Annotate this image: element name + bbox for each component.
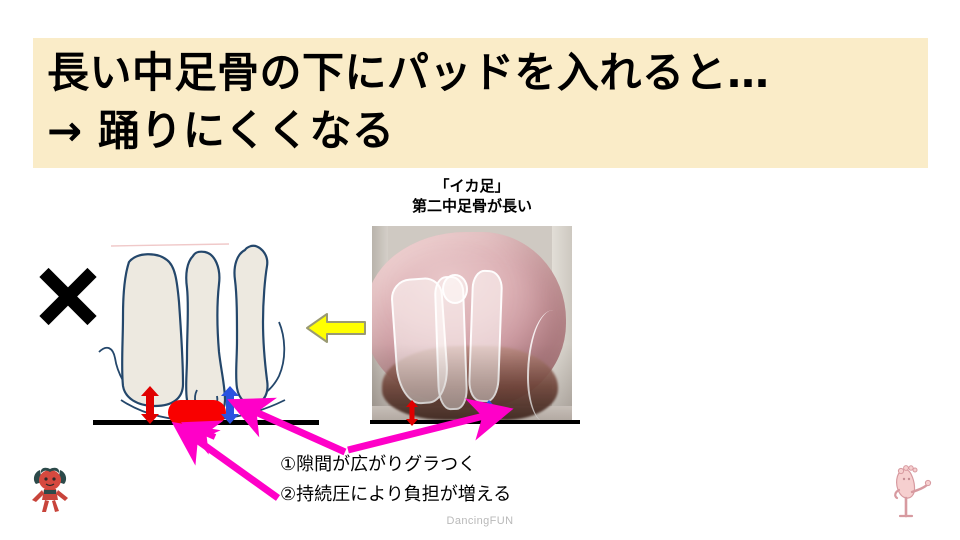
photo-ground-line xyxy=(370,420,580,424)
annotation-item-2: ②持続圧により負担が増える xyxy=(280,480,511,510)
title-line-2: → 踊りにくくなる xyxy=(47,102,928,160)
title-banner: 長い中足骨の下にパッドを入れると… → 踊りにくくなる xyxy=(33,38,928,168)
title-line-1: 長い中足骨の下にパッドを入れると… xyxy=(47,44,928,102)
photo-vignette xyxy=(372,226,572,422)
photo-red-updown-arrow xyxy=(404,400,420,426)
pink-foot-dancer-mascot xyxy=(888,462,932,520)
slide-canvas: 長い中足骨の下にパッドを入れると… → 踊りにくくなる 「イカ足」 第二中足骨が… xyxy=(0,0,960,540)
footer-brand: DancingFUN xyxy=(0,515,960,527)
annotation-item-1: ①隙間が広がりグラつく xyxy=(280,450,511,480)
annotation-list: ①隙間が広がりグラつく ②持続圧により負担が増える xyxy=(280,450,511,510)
photo-caption: 「イカ足」 第二中足骨が長い xyxy=(372,176,572,216)
pointer-arrow-to-pad xyxy=(183,430,278,498)
cross-mark-icon xyxy=(36,264,100,328)
diagram-red-updown-arrow xyxy=(139,385,161,425)
foot-photo xyxy=(372,226,572,422)
photo-caption-line-2: 第二中足骨が長い xyxy=(372,196,572,216)
metatarsal-pad xyxy=(168,400,226,425)
photo-caption-line-1: 「イカ足」 xyxy=(372,176,572,196)
red-dancer-mascot xyxy=(28,460,72,518)
photo-blue-updown-arrow xyxy=(481,400,497,426)
diagram-blue-updown-arrow xyxy=(219,385,241,425)
